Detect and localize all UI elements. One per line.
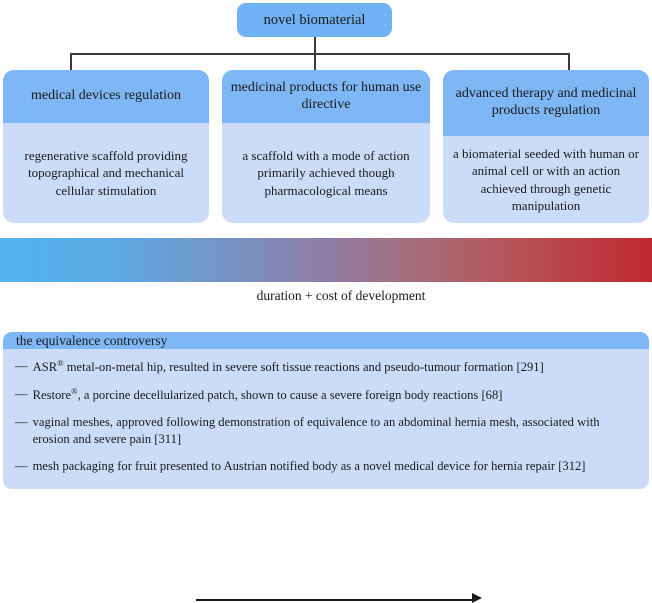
list-item-text: vaginal meshes, approved following demon… [33, 414, 637, 448]
diagram-canvas: novel biomaterial medical devices regula… [0, 0, 652, 492]
list-item-rest: , a porcine decellularized patch, shown … [78, 389, 503, 403]
category-header: medical devices regulation [3, 70, 209, 123]
root-node-novel-biomaterial: novel biomaterial [237, 3, 392, 37]
connector-drop-middle [314, 53, 316, 71]
list-item-dash: — [15, 386, 28, 404]
axis-arrow-group: duration + cost of development [0, 288, 652, 318]
list-item-dash: — [15, 414, 28, 448]
list-item-prefix: ASR [33, 360, 58, 374]
axis-arrow-label: duration + cost of development [196, 288, 486, 304]
list-item: — Restore®, a porcine decellularized pat… [15, 386, 637, 404]
category-header: medicinal products for human use directi… [222, 70, 430, 123]
panel-header-label: the equivalence controversy [16, 333, 167, 349]
connector-drop-left [70, 53, 72, 71]
list-item-text: Restore®, a porcine decellularized patch… [33, 386, 637, 404]
root-node-label: novel biomaterial [264, 12, 366, 29]
list-item-dash: — [15, 358, 28, 376]
list-item-dash: — [15, 458, 28, 475]
category-box-medical-devices-regulation: medical devices regulation regenerative … [3, 70, 209, 223]
category-box-advanced-therapy-medicinal-products-regulation: advanced therapy and medicinal products … [443, 70, 649, 223]
connector-stem [314, 37, 316, 54]
list-item: — vaginal meshes, approved following dem… [15, 414, 637, 448]
list-item: — mesh packaging for fruit presented to … [15, 458, 637, 475]
category-body: a biomaterial seeded with human or anima… [443, 136, 649, 223]
panel-header: the equivalence controversy [3, 332, 649, 349]
arrow-head-icon [472, 593, 482, 603]
connector-drop-right [568, 53, 570, 71]
category-header: advanced therapy and medicinal products … [443, 70, 649, 136]
connector-horizontal-bar [70, 53, 570, 55]
list-item: — ASR® metal-on-metal hip, resulted in s… [15, 358, 637, 376]
category-body: regenerative scaffold providing topograp… [3, 123, 209, 223]
panel-body: — ASR® metal-on-metal hip, resulted in s… [3, 349, 649, 489]
list-item-prefix: Restore [33, 389, 71, 403]
category-body: a scaffold with a mode of action primari… [222, 123, 430, 223]
axis-arrow-line [196, 599, 474, 601]
gradient-bar-blue-to-red [0, 238, 652, 282]
category-box-medicinal-products-for-human-use-directive: medicinal products for human use directi… [222, 70, 430, 223]
list-item-text: mesh packaging for fruit presented to Au… [33, 458, 637, 475]
equivalence-controversy-panel: the equivalence controversy — ASR® metal… [3, 332, 649, 489]
list-item-rest: metal-on-metal hip, resulted in severe s… [64, 360, 544, 374]
list-item-text: ASR® metal-on-metal hip, resulted in sev… [33, 358, 637, 376]
